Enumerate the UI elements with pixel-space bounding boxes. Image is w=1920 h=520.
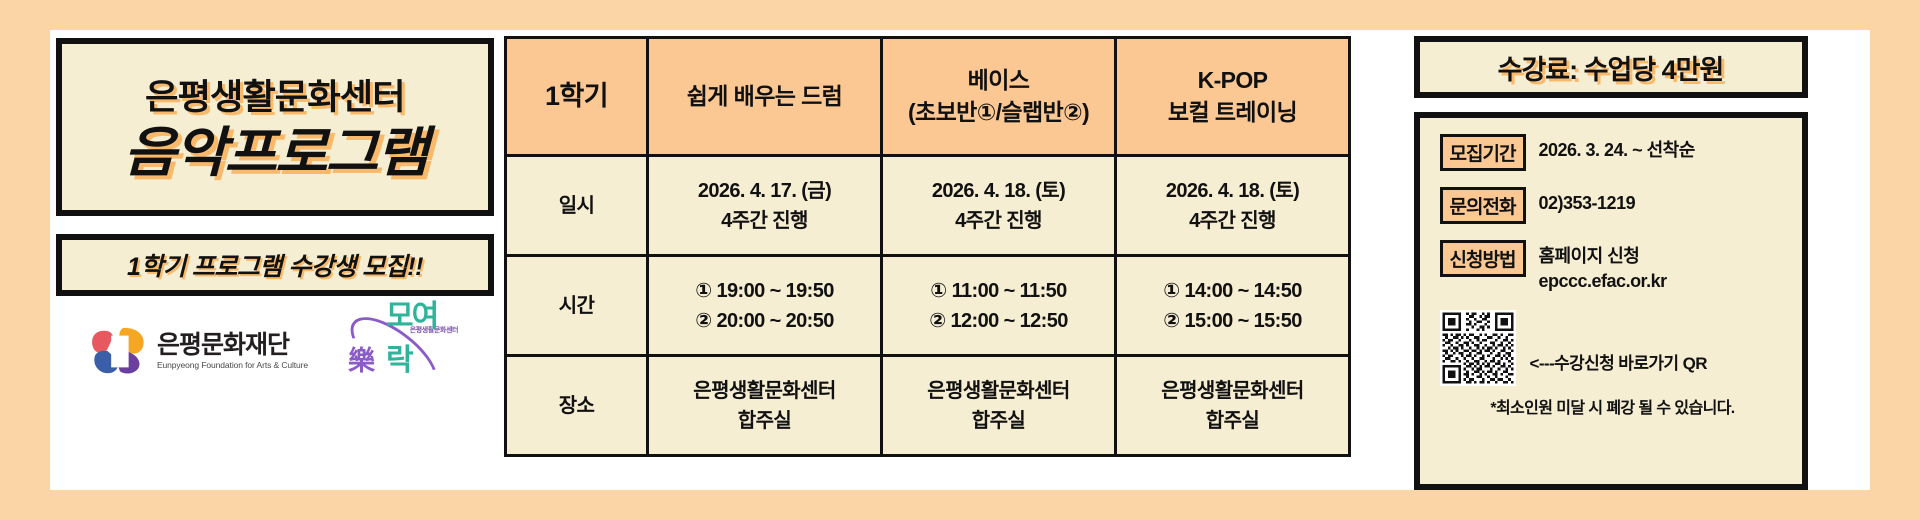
info-value-period: 2026. 3. 24. ~ 선착순 [1539, 134, 1695, 163]
info-value-phone[interactable]: 02)353-1219 [1539, 187, 1636, 216]
header-cell-term: 1학기 [506, 38, 648, 156]
info-box: 모집기간 2026. 3. 24. ~ 선착순 문의전화 02)353-1219… [1414, 112, 1808, 490]
info-row-apply: 신청방법 홈페이지 신청 epccc.efac.or.kr [1440, 240, 1802, 294]
apply-method-text: 홈페이지 신청 [1539, 244, 1667, 269]
cell-date-kpop-line1: 2026. 4. 18. (토) [1117, 176, 1348, 206]
cell-time-drum-line2: ② 20:00 ~ 20:50 [649, 306, 880, 336]
cell-time-bass-line1: ① 11:00 ~ 11:50 [883, 276, 1114, 306]
cell-place-bass: 은평생활문화센터 합주실 [882, 356, 1116, 456]
foundation-name-ko: 은평문화재단 [157, 332, 308, 358]
cell-date-kpop: 2026. 4. 18. (토) 4주간 진행 [1116, 156, 1350, 256]
table-row-time: 시간 ① 19:00 ~ 19:50 ② 20:00 ~ 20:50 ① 11:… [506, 256, 1350, 356]
left-panel: 은평생활문화센터 음악프로그램 1학기 프로그램 수강생 모집!! 은평문화재단… [50, 30, 500, 490]
cell-place-bass-line1: 은평생활문화센터 [883, 376, 1114, 406]
header-bass-line2: (초보반①/슬랩반②) [883, 97, 1114, 128]
row-label-place: 장소 [506, 356, 648, 456]
fee-text: 수강료: 수업당 4만원 [1498, 48, 1724, 87]
header-kpop-line2: 보컬 트레이닝 [1117, 97, 1348, 128]
qr-caption: <---수강신청 바로가기 QR [1530, 349, 1707, 374]
cell-place-drum-line2: 합주실 [649, 406, 880, 436]
cell-time-bass: ① 11:00 ~ 11:50 ② 12:00 ~ 12:50 [882, 256, 1116, 356]
header-drum-line1: 쉽게 배우는 드럼 [649, 81, 880, 112]
qr-row: <---수강신청 바로가기 QR [1440, 310, 1802, 386]
info-row-phone: 문의전화 02)353-1219 [1440, 187, 1802, 224]
header-cell-drum: 쉽게 배우는 드럼 [648, 38, 882, 156]
info-tag-apply: 신청방법 [1440, 240, 1526, 277]
cell-date-bass-line2: 4주간 진행 [883, 206, 1114, 236]
moyeorak-word: 모여락 [386, 291, 460, 379]
cell-date-bass: 2026. 4. 18. (토) 4주간 진행 [882, 156, 1116, 256]
poster-card: 은평생활문화센터 음악프로그램 1학기 프로그램 수강생 모집!! 은평문화재단… [50, 30, 1870, 490]
right-panel: 수강료: 수업당 4만원 모집기간 2026. 3. 24. ~ 선착순 문의전… [1355, 30, 1870, 490]
info-tag-period: 모집기간 [1440, 134, 1526, 171]
header-cell-kpop: K-POP 보컬 트레이닝 [1116, 38, 1350, 156]
title-box: 은평생활문화센터 음악프로그램 [56, 38, 494, 216]
page-title-line1: 은평생활문화센터 [145, 69, 405, 120]
minimum-enrollment-note: *최소인원 미달 시 폐강 될 수 있습니다. [1440, 394, 1786, 418]
logo-row: 은평문화재단 Eunpyeong Foundation for Arts & C… [50, 322, 500, 380]
schedule-table-wrap: 1학기 쉽게 배우는 드럼 베이스 (초보반①/슬랩반②) K-POP 보컬 트… [500, 30, 1355, 490]
cell-time-bass-line2: ② 12:00 ~ 12:50 [883, 306, 1114, 336]
cell-time-drum-line1: ① 19:00 ~ 19:50 [649, 276, 880, 306]
apply-url-link[interactable]: epccc.efac.or.kr [1539, 269, 1667, 294]
info-tag-phone: 문의전화 [1440, 187, 1526, 224]
schedule-table: 1학기 쉽게 배우는 드럼 베이스 (초보반①/슬랩반②) K-POP 보컬 트… [504, 36, 1351, 457]
cell-place-kpop-line1: 은평생활문화센터 [1117, 376, 1348, 406]
info-row-period: 모집기간 2026. 3. 24. ~ 선착순 [1440, 134, 1802, 171]
foundation-name-en: Eunpyeong Foundation for Arts & Culture [157, 361, 308, 370]
cell-place-drum-line1: 은평생활문화센터 [649, 376, 880, 406]
table-header-row: 1학기 쉽게 배우는 드럼 베이스 (초보반①/슬랩반②) K-POP 보컬 트… [506, 38, 1350, 156]
cell-date-bass-line1: 2026. 4. 18. (토) [883, 176, 1114, 206]
cell-place-bass-line2: 합주실 [883, 406, 1114, 436]
cell-place-drum: 은평생활문화센터 합주실 [648, 356, 882, 456]
cell-place-kpop: 은평생활문화센터 합주실 [1116, 356, 1350, 456]
foundation-logo-icon [90, 325, 148, 377]
moyeorak-symbol: 樂 [348, 339, 375, 378]
header-kpop-line1: K-POP [1117, 65, 1348, 96]
cell-place-kpop-line2: 합주실 [1117, 406, 1348, 436]
row-label-time: 시간 [506, 256, 648, 356]
cell-date-drum: 2026. 4. 17. (금) 4주간 진행 [648, 156, 882, 256]
subtitle-box: 1학기 프로그램 수강생 모집!! [56, 234, 494, 296]
table-row-place: 장소 은평생활문화센터 합주실 은평생활문화센터 합주실 은평생활문화센터 합주… [506, 356, 1350, 456]
cell-time-drum: ① 19:00 ~ 19:50 ② 20:00 ~ 20:50 [648, 256, 882, 356]
row-label-date: 일시 [506, 156, 648, 256]
cell-date-drum-line1: 2026. 4. 17. (금) [649, 176, 880, 206]
foundation-logo-text: 은평문화재단 Eunpyeong Foundation for Arts & C… [157, 332, 308, 370]
page-title-line2: 음악프로그램 [123, 122, 426, 184]
header-bass-line1: 베이스 [883, 65, 1114, 96]
header-cell-bass: 베이스 (초보반①/슬랩반②) [882, 38, 1116, 156]
info-value-apply: 홈페이지 신청 epccc.efac.or.kr [1539, 240, 1667, 294]
qr-code-icon[interactable] [1440, 310, 1516, 386]
cell-date-drum-line2: 4주간 진행 [649, 206, 880, 236]
cell-time-kpop-line1: ① 14:00 ~ 14:50 [1117, 276, 1348, 306]
cell-date-kpop-line2: 4주간 진행 [1117, 206, 1348, 236]
cell-time-kpop-line2: ② 15:00 ~ 15:50 [1117, 306, 1348, 336]
logo-moyeorak: 은평생활문화센터 樂 모여락 [342, 322, 460, 380]
subtitle-text: 1학기 프로그램 수강생 모집!! [127, 247, 423, 283]
logo-eunpyeong-foundation: 은평문화재단 Eunpyeong Foundation for Arts & C… [90, 325, 308, 377]
cell-time-kpop: ① 14:00 ~ 14:50 ② 15:00 ~ 15:50 [1116, 256, 1350, 356]
table-row-date: 일시 2026. 4. 17. (금) 4주간 진행 2026. 4. 18. … [506, 156, 1350, 256]
fee-box: 수강료: 수업당 4만원 [1414, 36, 1808, 98]
